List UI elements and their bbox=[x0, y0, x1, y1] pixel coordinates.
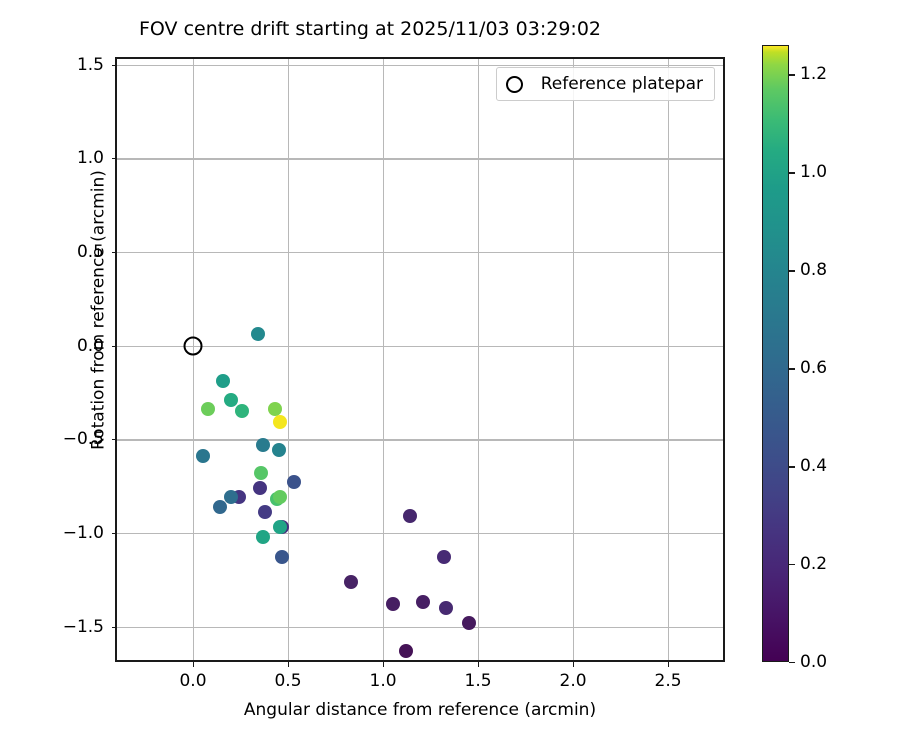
scatter-point bbox=[268, 402, 282, 416]
scatter-point bbox=[201, 402, 215, 416]
page-title: FOV centre drift starting at 2025/11/03 … bbox=[0, 18, 740, 40]
scatter-point bbox=[213, 500, 227, 514]
colorbar-tick bbox=[789, 564, 795, 565]
gridline-horizontal bbox=[117, 533, 723, 534]
scatter-point bbox=[462, 616, 476, 630]
plot-axes: 0.00.51.01.52.02.5−1.5−1.0−0.50.00.51.01… bbox=[115, 57, 725, 662]
scatter-point bbox=[287, 475, 301, 489]
x-tick-label: 1.0 bbox=[370, 671, 397, 691]
y-tick bbox=[112, 346, 117, 347]
colorbar-tick bbox=[789, 368, 795, 369]
colorbar-tick bbox=[789, 270, 795, 271]
scatter-point bbox=[258, 505, 272, 519]
gridline-vertical bbox=[193, 59, 194, 660]
y-tick bbox=[112, 439, 117, 440]
gridline-horizontal bbox=[117, 346, 723, 347]
scatter-point bbox=[224, 393, 238, 407]
figure-canvas: FOV centre drift starting at 2025/11/03 … bbox=[0, 0, 900, 750]
colorbar: 0.00.20.40.60.81.01.2 bbox=[762, 45, 789, 662]
y-tick bbox=[112, 158, 117, 159]
gridline-horizontal bbox=[117, 252, 723, 253]
x-tick bbox=[288, 662, 289, 667]
x-tick bbox=[193, 662, 194, 667]
scatter-point bbox=[275, 550, 289, 564]
reference-platepar-marker bbox=[184, 336, 203, 355]
colorbar-tick bbox=[789, 466, 795, 467]
colorbar-tick-label: 1.0 bbox=[800, 162, 827, 182]
scatter-point bbox=[439, 601, 453, 615]
scatter-point bbox=[253, 481, 267, 495]
scatter-point bbox=[254, 466, 268, 480]
colorbar-tick bbox=[789, 74, 795, 75]
x-axis-label: Angular distance from reference (arcmin) bbox=[115, 700, 725, 720]
gridline-vertical bbox=[573, 59, 574, 660]
gridline-horizontal bbox=[117, 627, 723, 628]
gridline-vertical bbox=[288, 59, 289, 660]
scatter-point bbox=[437, 550, 451, 564]
x-tick bbox=[668, 662, 669, 667]
scatter-point bbox=[256, 438, 270, 452]
scatter-point bbox=[251, 327, 265, 341]
legend-open-circle-icon bbox=[506, 76, 523, 93]
scatter-point bbox=[273, 415, 287, 429]
scatter-point bbox=[273, 520, 287, 534]
legend: Reference platepar bbox=[496, 67, 715, 101]
gridline-vertical bbox=[478, 59, 479, 660]
y-tick-label: −1.5 bbox=[63, 617, 104, 637]
scatter-point bbox=[256, 530, 270, 544]
colorbar-tick-label: 0.2 bbox=[800, 554, 827, 574]
scatter-point bbox=[273, 490, 287, 504]
x-tick-label: 1.5 bbox=[465, 671, 492, 691]
colorbar-tick-label: 0.6 bbox=[800, 358, 827, 378]
scatter-point bbox=[196, 449, 210, 463]
colorbar-gradient bbox=[762, 45, 789, 662]
x-tick-label: 2.5 bbox=[655, 671, 682, 691]
scatter-point bbox=[272, 443, 286, 457]
y-tick bbox=[112, 65, 117, 66]
colorbar-tick-label: 0.8 bbox=[800, 260, 827, 280]
scatter-point bbox=[416, 595, 430, 609]
x-tick-label: 2.0 bbox=[560, 671, 587, 691]
scatter-point bbox=[399, 644, 413, 658]
scatter-point bbox=[216, 374, 230, 388]
gridline-horizontal bbox=[117, 158, 723, 159]
x-tick bbox=[383, 662, 384, 667]
gridline-horizontal bbox=[117, 439, 723, 440]
x-tick-label: 0.0 bbox=[179, 671, 206, 691]
scatter-point bbox=[403, 509, 417, 523]
y-tick bbox=[112, 627, 117, 628]
y-axis-label: Rotation from reference (arcmin) bbox=[89, 8, 109, 613]
legend-item-label: Reference platepar bbox=[541, 74, 703, 94]
colorbar-tick-label: 0.0 bbox=[800, 652, 827, 672]
colorbar-tick bbox=[789, 172, 795, 173]
scatter-point bbox=[344, 575, 358, 589]
x-tick bbox=[478, 662, 479, 667]
scatter-point bbox=[224, 490, 238, 504]
gridline-horizontal bbox=[117, 65, 723, 66]
scatter-point bbox=[386, 597, 400, 611]
gridline-vertical bbox=[668, 59, 669, 660]
scatter-point bbox=[235, 404, 249, 418]
y-tick bbox=[112, 533, 117, 534]
gridline-vertical bbox=[383, 59, 384, 660]
colorbar-tick-label: 1.2 bbox=[800, 64, 827, 84]
colorbar-tick-label: 0.4 bbox=[800, 456, 827, 476]
colorbar-tick bbox=[789, 662, 795, 663]
y-tick bbox=[112, 252, 117, 253]
x-tick bbox=[573, 662, 574, 667]
x-tick-label: 0.5 bbox=[274, 671, 301, 691]
